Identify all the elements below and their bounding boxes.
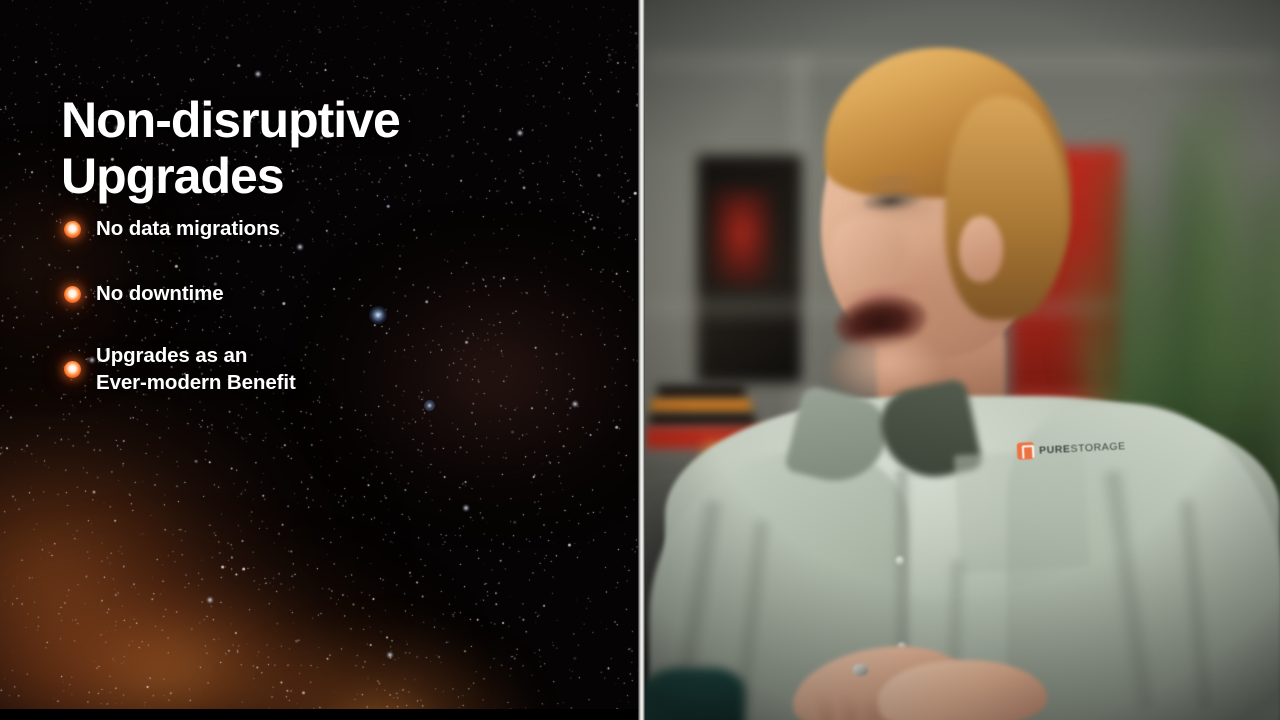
logo-text-light: STORAGE bbox=[1070, 440, 1126, 455]
list-item: No data migrations bbox=[64, 212, 584, 246]
list-item: No downtime bbox=[64, 277, 584, 311]
list-item: Upgrades as an Ever-modern Benefit bbox=[64, 342, 584, 397]
slide-content: Non-disruptive Upgrades No data migratio… bbox=[0, 0, 640, 720]
shirt-pocket bbox=[954, 449, 1090, 574]
bullet-dot-icon bbox=[64, 286, 81, 303]
slide-title: Non-disruptive Upgrades bbox=[61, 92, 581, 204]
screenshot-stage: Non-disruptive Upgrades No data migratio… bbox=[0, 0, 1280, 720]
shirt-button bbox=[895, 556, 905, 566]
pure-storage-logo-icon bbox=[1017, 442, 1035, 460]
chair bbox=[645, 668, 745, 720]
pure-storage-logo-text: PURESTORAGE bbox=[1039, 440, 1126, 457]
bullet-label: Upgrades as an Ever-modern Benefit bbox=[96, 342, 296, 397]
slide-bullet-list: No data migrations No downtime Upgrades … bbox=[64, 212, 584, 397]
logo-text-bold: PURE bbox=[1039, 443, 1071, 457]
bullet-dot-icon bbox=[64, 221, 81, 238]
book-stack-item bbox=[649, 413, 755, 427]
bullet-dot-icon bbox=[64, 361, 81, 378]
presentation-slide-panel: Non-disruptive Upgrades No data migratio… bbox=[0, 0, 640, 720]
video-panel: PURESTORAGE bbox=[645, 0, 1280, 720]
framed-art-red-detail bbox=[711, 190, 773, 286]
ear bbox=[959, 216, 1003, 282]
panel-divider bbox=[638, 0, 645, 720]
bullet-label: No downtime bbox=[96, 280, 224, 307]
book-stack-item bbox=[651, 399, 751, 414]
nose bbox=[831, 216, 907, 290]
bullet-label: No data migrations bbox=[96, 215, 280, 242]
slide-bottom-letterbox bbox=[0, 709, 640, 720]
